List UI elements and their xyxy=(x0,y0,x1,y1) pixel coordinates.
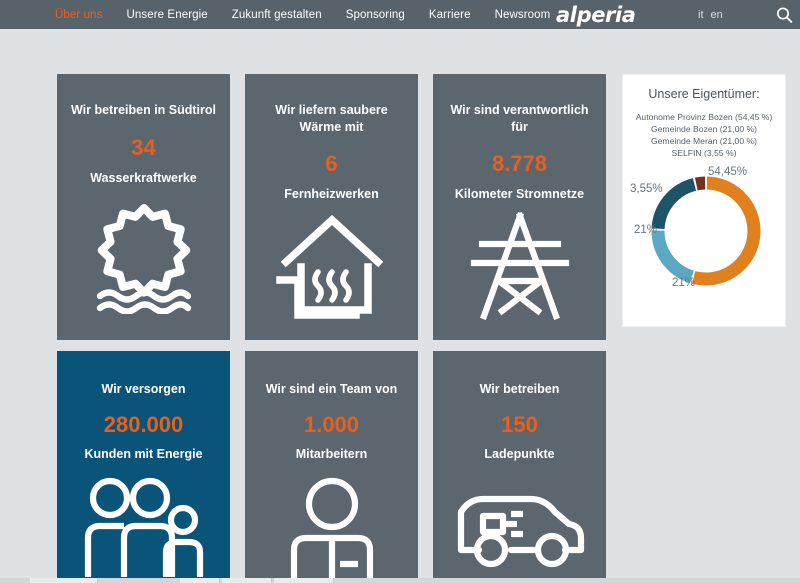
owners-legend: Autonome Provinz Bozen (54,45 %) Gemeind… xyxy=(628,112,780,159)
stat-card-subtitle: Fernheizwerken xyxy=(278,187,384,203)
legend-item-gemeinde-bozen: Gemeinde Bozen (21,00 %) xyxy=(628,124,780,136)
stat-card-heading: Wir versorgen xyxy=(92,381,196,398)
search-icon[interactable] xyxy=(776,6,793,23)
power-pylon-icon xyxy=(433,207,606,340)
strip-segment xyxy=(180,578,220,583)
stat-card-heading: Wir sind ein Team von xyxy=(256,381,408,398)
strip-segment xyxy=(274,578,334,583)
nav-links: Über uns Unsere Energie Zukunft gestalte… xyxy=(55,9,550,21)
stat-card-subtitle: Mitarbeitern xyxy=(290,447,374,463)
nav-item-karriere[interactable]: Karriere xyxy=(429,9,471,21)
stat-card-number: 1.000 xyxy=(304,414,359,436)
employee-person-icon xyxy=(245,464,418,583)
page-content: Wir betreiben in Südtirol 34 Wasserkraft… xyxy=(0,29,800,583)
donut-label-gemeinde-meran: 21% xyxy=(634,224,657,236)
stat-card-heading: Wir betreiben in Südtirol xyxy=(61,102,226,119)
nav-item-ueber-uns[interactable]: Über uns xyxy=(55,9,102,21)
owners-title: Unsere Eigentümer: xyxy=(648,87,759,101)
nav-item-newsroom[interactable]: Newsroom xyxy=(495,9,551,21)
house-heating-icon xyxy=(245,207,418,340)
language-it[interactable]: it xyxy=(698,9,704,21)
language-switcher: it en xyxy=(698,9,723,21)
stat-card-heading: Wir betreiben xyxy=(470,381,570,398)
donut-label-gemeinde-bozen: 21% xyxy=(672,277,695,289)
donut-slice xyxy=(696,183,705,184)
stat-card-number: 150 xyxy=(501,414,538,436)
legend-item-provinz-bozen: Autonome Provinz Bozen (54,45 %) xyxy=(628,112,780,124)
legend-item-gemeinde-meran: Gemeinde Meran (21,00 %) xyxy=(628,136,780,148)
stat-card-subtitle: Ladepunkte xyxy=(478,447,560,463)
alperia-logo[interactable]: alperia xyxy=(556,3,636,27)
stat-card-charging-points[interactable]: Wir betreiben 150 Ladepunkte xyxy=(433,351,606,583)
donut-label-provinz-bozen: 54,45% xyxy=(708,166,747,178)
stat-card-district-heating[interactable]: Wir liefern saubere Wärme mit 6 Fernheiz… xyxy=(245,74,418,340)
donut-label-selfin: 3,55% xyxy=(630,183,663,195)
nav-item-sponsoring[interactable]: Sponsoring xyxy=(346,9,405,21)
stat-card-employees[interactable]: Wir sind ein Team von 1.000 Mitarbeitern xyxy=(245,351,418,583)
top-navigation-bar: Über uns Unsere Energie Zukunft gestalte… xyxy=(0,0,800,29)
electric-car-icon xyxy=(433,464,606,583)
stat-card-customers[interactable]: Wir versorgen 280.000 Kunden mit Energie xyxy=(57,351,230,583)
stat-card-number: 34 xyxy=(131,137,155,159)
stat-card-number: 280.000 xyxy=(104,414,184,436)
strip-segment xyxy=(30,578,98,583)
legend-item-selfin: SELFIN (3,55 %) xyxy=(628,148,780,160)
owners-donut-chart: 54,45% 21% 21% 3,55% xyxy=(624,165,784,297)
donut-slice xyxy=(658,185,694,229)
language-en[interactable]: en xyxy=(711,9,723,21)
stat-card-subtitle: Kilometer Stromnetze xyxy=(449,187,590,203)
stat-card-heading: Wir sind verantwortlich für xyxy=(433,102,606,135)
stat-card-number: 8.778 xyxy=(492,153,547,175)
nav-item-unsere-energie[interactable]: Unsere Energie xyxy=(126,9,207,21)
strip-segment xyxy=(222,578,272,583)
stat-card-subtitle: Wasserkraftwerke xyxy=(84,171,203,187)
stat-card-heading: Wir liefern saubere Wärme mit xyxy=(245,102,418,135)
bottom-strip xyxy=(0,578,800,583)
owners-chart-panel: Unsere Eigentümer: Autonome Provinz Boze… xyxy=(622,74,786,327)
stat-card-hydropower[interactable]: Wir betreiben in Südtirol 34 Wasserkraft… xyxy=(57,74,230,340)
nav-item-zukunft-gestalten[interactable]: Zukunft gestalten xyxy=(232,9,322,21)
stat-card-power-grid[interactable]: Wir sind verantwortlich für 8.778 Kilome… xyxy=(433,74,606,340)
water-turbine-icon xyxy=(57,190,230,340)
family-group-icon xyxy=(57,464,230,583)
stat-card-number: 6 xyxy=(325,153,337,175)
donut-slice xyxy=(658,231,692,277)
stat-card-subtitle: Kunden mit Energie xyxy=(78,447,208,463)
donut-slice xyxy=(694,183,754,279)
